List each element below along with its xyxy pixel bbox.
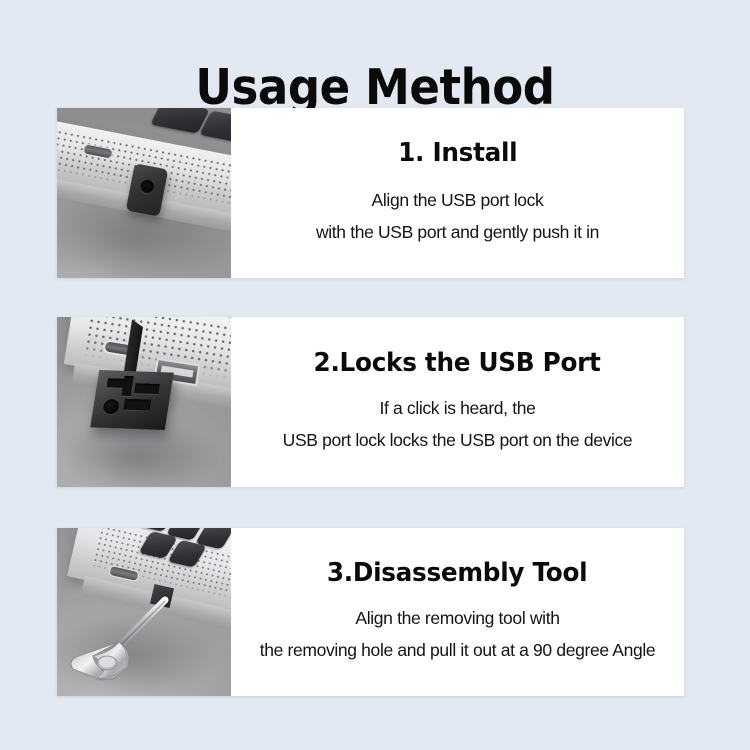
step-1-desc-line-2: with the USB port and gently push it in <box>316 216 599 248</box>
step-card-1: 1. Install Align the USB port lock with … <box>57 108 684 278</box>
step-1-desc-line-1: Align the USB port lock <box>372 184 544 216</box>
step-2-body: 2.Locks the USB Port If a click is heard… <box>231 317 684 487</box>
step-card-3: 3.Disassembly Tool Align the removing to… <box>57 528 684 696</box>
step-2-heading: 2.Locks the USB Port <box>314 348 601 378</box>
step-3-heading: 3.Disassembly Tool <box>327 558 587 588</box>
lock-keyhole <box>140 179 155 194</box>
step-1-heading: 1. Install <box>398 138 517 168</box>
step-3-body: 3.Disassembly Tool Align the removing to… <box>231 528 684 696</box>
step-3-desc-line-1: Align the removing tool with <box>355 602 559 634</box>
step-1-photo <box>57 108 231 278</box>
tool-shaft-shade <box>117 601 165 649</box>
step-card-2: 2.Locks the USB Port If a click is heard… <box>57 317 684 487</box>
step-2-desc-line-1: If a click is heard, the <box>380 392 536 424</box>
step-3-photo <box>57 528 231 696</box>
step-2-desc-line-2: USB port lock locks the USB port on the … <box>283 424 633 456</box>
usb-port-lock <box>90 370 174 430</box>
desk-shadow <box>69 425 219 487</box>
lock-keyway-slot <box>123 399 151 411</box>
lock-keyway-slot <box>134 383 160 394</box>
step-3-desc-line-2: the removing hole and pull it out at a 9… <box>260 634 656 666</box>
tool-handle-hole-highlight <box>99 657 115 668</box>
step-1-body: 1. Install Align the USB port lock with … <box>231 108 684 278</box>
step-2-photo <box>57 317 231 487</box>
usage-method-page: Usage Method 1. Install Align the USB po… <box>0 0 750 750</box>
removal-key-tool <box>57 528 231 696</box>
